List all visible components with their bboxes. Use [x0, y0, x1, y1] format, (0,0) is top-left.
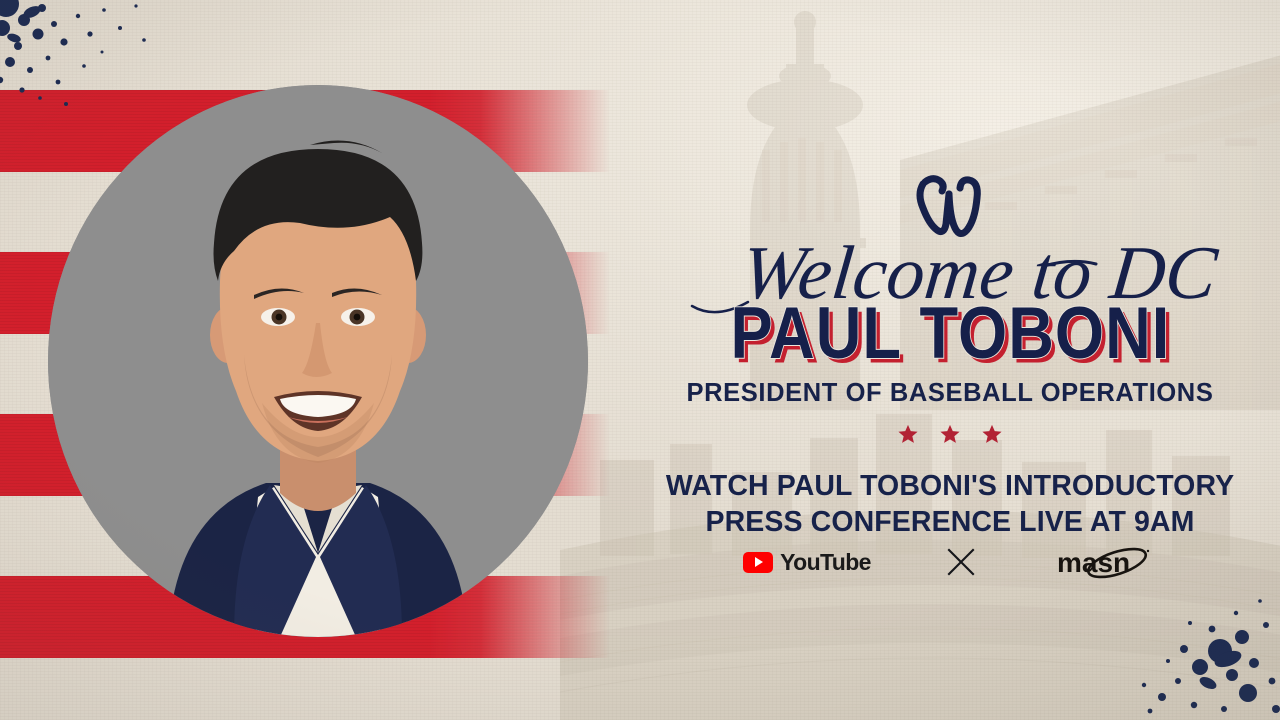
x-logo-icon[interactable] [945, 546, 977, 578]
name-face: PAUL TOBONI [731, 293, 1171, 374]
announcement-graphic: Welcome to DC PAUL TOBONI PAUL TOBONI PR… [0, 0, 1280, 720]
name-headline: PAUL TOBONI PAUL TOBONI [620, 306, 1280, 376]
youtube-logo[interactable]: YouTube [743, 549, 871, 576]
broadcast-logo-row: YouTube masn [620, 543, 1280, 581]
watch-callout-line-2: PRESS CONFERENCE LIVE AT 9AM [620, 504, 1280, 540]
content-column: Welcome to DC PAUL TOBONI PAUL TOBONI PR… [620, 0, 1280, 720]
star-icon [940, 424, 960, 444]
star-icon [898, 424, 918, 444]
portrait-avatar [48, 85, 588, 637]
masn-icon[interactable]: masn [1051, 543, 1157, 581]
role-subtitle: PRESIDENT OF BASEBALL OPERATIONS [620, 379, 1280, 408]
youtube-wordmark: YouTube [780, 549, 871, 576]
paul-toboni-title: PAUL TOBONI PAUL TOBONI [620, 306, 1280, 376]
portrait-illustration [48, 85, 588, 637]
youtube-icon [743, 552, 773, 573]
watch-callout: WATCH PAUL TOBONI'S INTRODUCTORY PRESS C… [620, 468, 1280, 540]
star-icon [982, 424, 1002, 444]
watch-callout-line-1: WATCH PAUL TOBONI'S INTRODUCTORY [620, 468, 1280, 504]
star-divider [620, 424, 1280, 444]
